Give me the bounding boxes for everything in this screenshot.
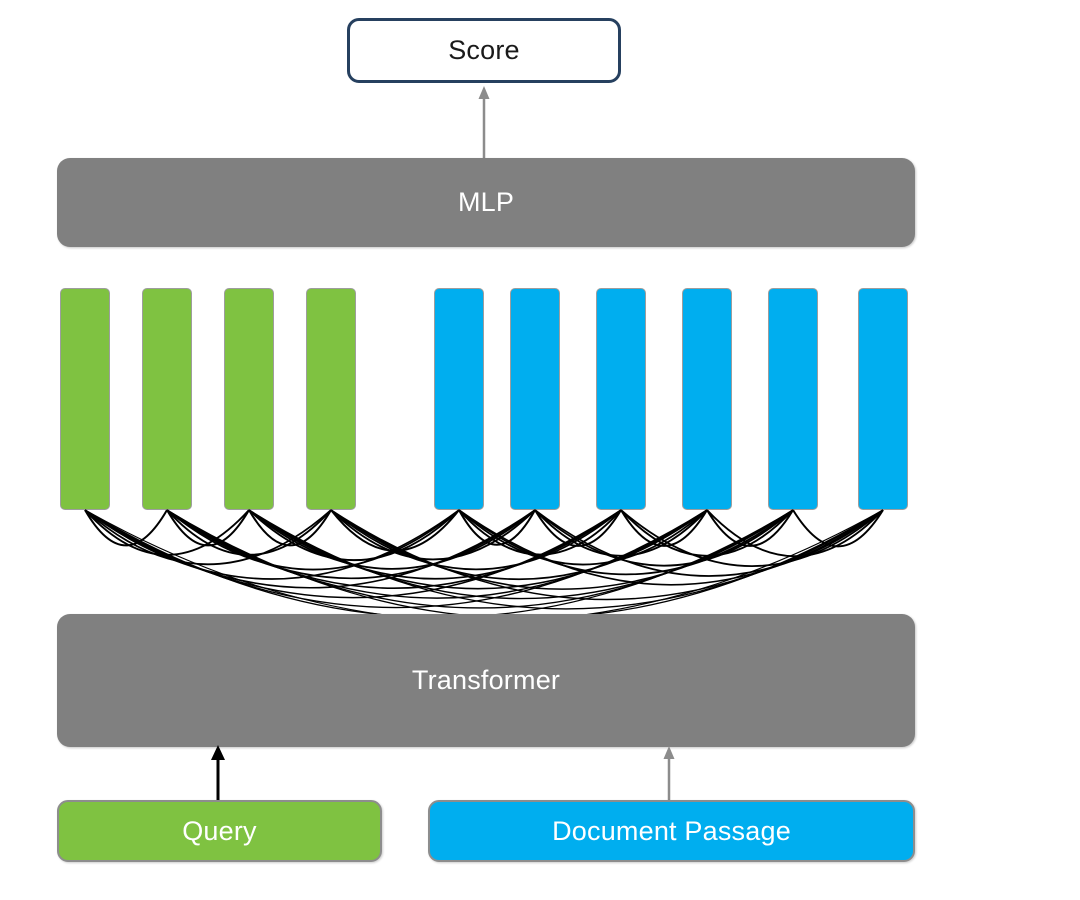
- attention-arc: [331, 510, 535, 559]
- attention-arc: [249, 510, 331, 545]
- attention-arc: [331, 510, 883, 599]
- diagram-canvas: Score MLP Transformer Query Docum: [0, 0, 1080, 900]
- score-label: Score: [448, 35, 520, 66]
- attention-arc: [331, 510, 459, 551]
- attention-arc: [535, 510, 793, 566]
- attention-arc: [249, 510, 535, 569]
- transformer-node: Transformer: [57, 614, 915, 747]
- attention-arc: [793, 510, 883, 546]
- attention-arc: [459, 510, 621, 555]
- attention-arcs: [85, 510, 883, 622]
- attention-arc: [249, 510, 707, 589]
- passage-input-node: Document Passage: [428, 800, 915, 862]
- query-label: Query: [182, 816, 257, 847]
- mlp-label: MLP: [458, 187, 514, 218]
- attention-arc: [621, 510, 707, 546]
- attention-arc: [459, 510, 707, 565]
- attention-arc: [249, 510, 621, 579]
- attention-arc: [249, 510, 793, 599]
- transformer-label: Transformer: [412, 665, 560, 696]
- attention-arc: [535, 510, 883, 576]
- arrow-query-to-transformer: [211, 745, 225, 800]
- token-embedding-bar: [768, 288, 818, 510]
- arrow-mlp-to-score: [479, 86, 490, 158]
- token-embedding-bar: [858, 288, 908, 510]
- attention-arc: [331, 510, 621, 569]
- token-embedding-bar: [434, 288, 484, 510]
- attention-arc: [459, 510, 883, 585]
- attention-arc: [167, 510, 883, 618]
- attention-arc: [85, 510, 167, 545]
- attention-arc: [167, 510, 459, 570]
- arrow-passage-to-transformer: [664, 746, 675, 800]
- attention-arc: [85, 510, 459, 579]
- attention-arc: [249, 510, 883, 609]
- token-embedding-bar: [510, 288, 560, 510]
- mlp-node: MLP: [57, 158, 915, 247]
- attention-arc: [167, 510, 621, 588]
- attention-arc: [85, 510, 535, 588]
- attention-arc: [331, 510, 793, 589]
- token-embedding-bar: [60, 288, 110, 510]
- attention-arc: [621, 510, 793, 556]
- attention-arc: [535, 510, 621, 546]
- attention-arc: [167, 510, 707, 598]
- attention-arc: [85, 510, 249, 555]
- token-embedding-bar: [682, 288, 732, 510]
- attention-arc: [167, 510, 793, 608]
- token-embedding-bar: [224, 288, 274, 510]
- passage-label: Document Passage: [552, 816, 791, 847]
- attention-arc: [85, 510, 707, 608]
- attention-arc: [85, 510, 621, 598]
- token-embedding-bar: [142, 288, 192, 510]
- score-node: Score: [347, 18, 621, 83]
- attention-arc: [331, 510, 707, 579]
- attention-arc: [167, 510, 535, 578]
- attention-arc: [535, 510, 707, 556]
- attention-arc: [85, 510, 331, 564]
- attention-arc: [707, 510, 793, 546]
- attention-arc: [459, 510, 535, 545]
- attention-arc: [85, 510, 793, 617]
- attention-arc: [85, 510, 883, 622]
- token-embedding-bar: [596, 288, 646, 510]
- attention-arc: [621, 510, 883, 566]
- attention-arc: [249, 510, 459, 560]
- attention-arc: [459, 510, 793, 574]
- query-input-node: Query: [57, 800, 382, 862]
- attention-arc: [707, 510, 883, 556]
- attention-arc: [167, 510, 331, 555]
- token-embedding-bar: [306, 288, 356, 510]
- attention-arc: [167, 510, 249, 545]
